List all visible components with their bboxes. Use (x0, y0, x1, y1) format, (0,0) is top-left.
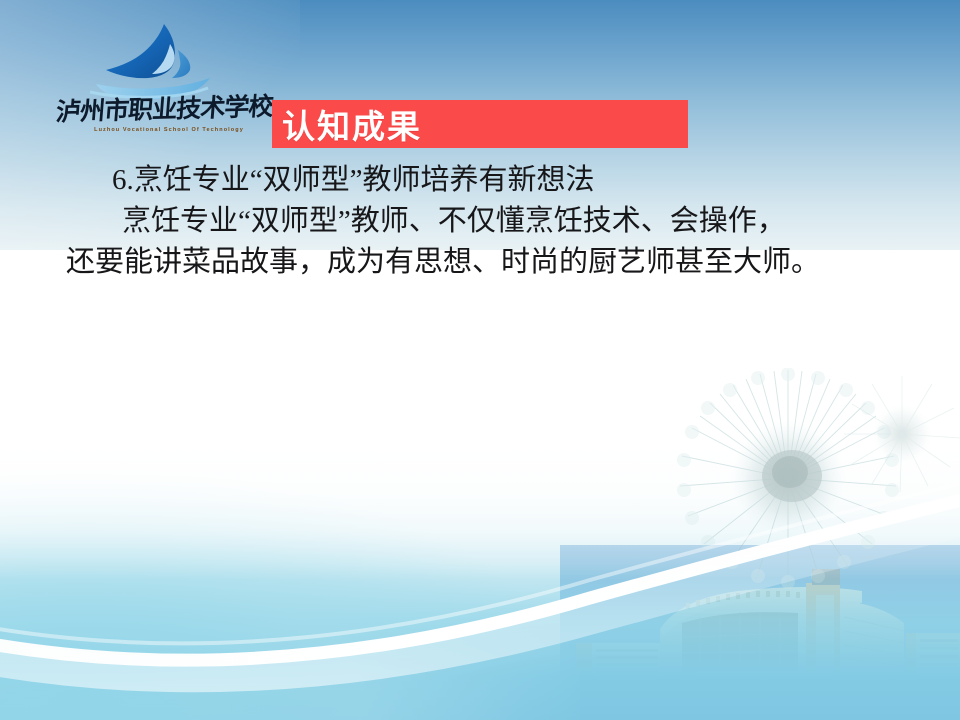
body-text: 6.烹饪专业“双师型”教师培养有新想法 烹饪专业“双师型”教师、不仅懂烹饪技术、… (66, 160, 916, 283)
sailboat-logo-icon (86, 22, 221, 102)
school-logo: 泸州市职业技术学校 Luzhou Vocational School Of Te… (56, 22, 242, 144)
school-name-english: Luzhou Vocational School Of Technology (94, 127, 244, 133)
page-title: 认知成果 (282, 100, 422, 148)
body-line-1: 6.烹饪专业“双师型”教师培养有新想法 (66, 160, 916, 201)
body-line-2: 烹饪专业“双师型”教师、不仅懂烹饪技术、会操作， (66, 201, 916, 242)
slide-canvas: 泸州市职业技术学校 Luzhou Vocational School Of Te… (0, 0, 960, 720)
background-white-veil (0, 250, 960, 580)
body-line-3: 还要能讲菜品故事，成为有思想、时尚的厨艺师甚至大师。 (66, 242, 916, 283)
